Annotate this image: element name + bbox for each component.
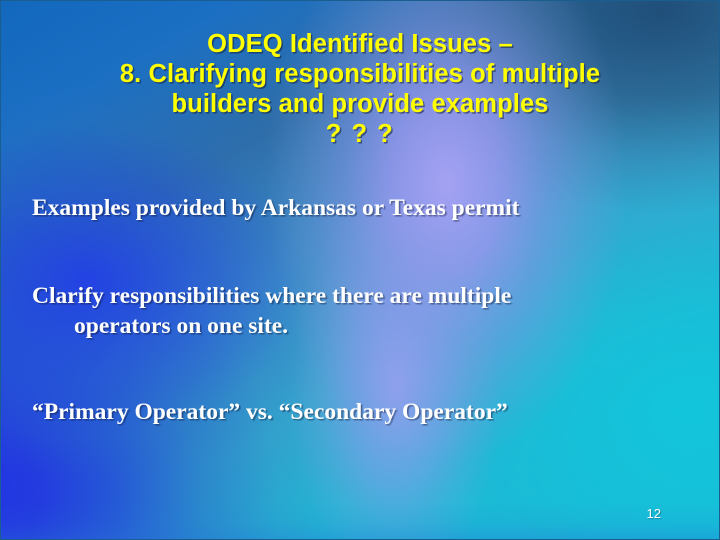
body-paragraph-primary-vs-secondary: “Primary Operator” vs. “Secondary Operat… [31,397,689,427]
slide-content: ODEQ Identified Issues – 8. Clarifying r… [1,1,719,539]
body-line-primary-vs-secondary: “Primary Operator” vs. “Secondary Operat… [32,399,508,425]
body-paragraph-clarify-responsibilities: Clarify responsibilities where there are… [31,281,689,341]
slide-title: ODEQ Identified Issues – 8. Clarifying r… [1,29,719,149]
title-line-3: builders and provide examples [1,89,719,119]
body-spacer-2 [31,341,689,397]
title-line-2: 8. Clarifying responsibilities of multip… [1,59,719,89]
title-line-1: ODEQ Identified Issues – [1,29,719,59]
slide-body: Examples provided by Arkansas or Texas p… [31,193,689,427]
title-line-question-marks: ? ? ? [1,119,719,149]
body-spacer-1 [31,223,689,281]
body-paragraph-examples-permit: Examples provided by Arkansas or Texas p… [31,193,689,223]
body-line-clarify-1: Clarify responsibilities where there are… [32,283,511,309]
slide-canvas: ODEQ Identified Issues – 8. Clarifying r… [0,0,720,540]
body-line-clarify-2: operators on one site. [32,311,689,341]
body-line-examples-permit: Examples provided by Arkansas or Texas p… [32,195,520,221]
page-number: 12 [647,507,661,521]
